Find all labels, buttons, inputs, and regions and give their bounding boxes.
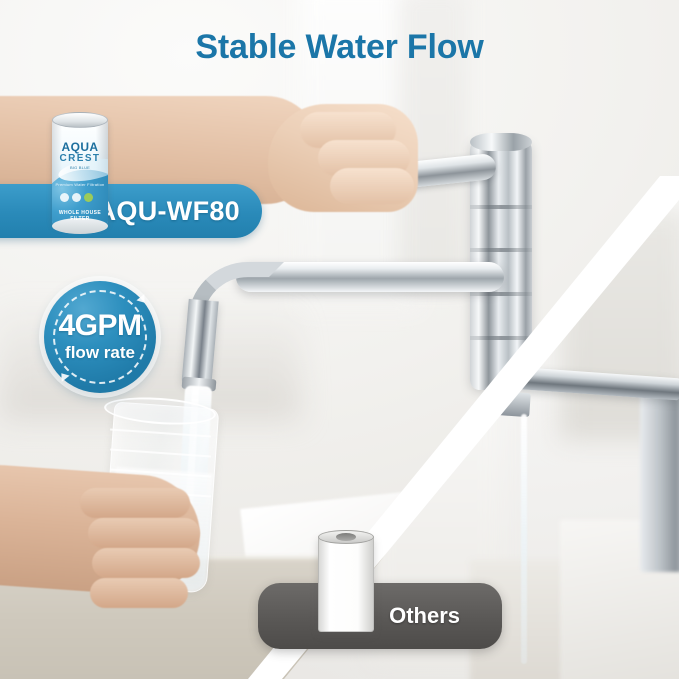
flow-rate-caption: flow rate bbox=[44, 343, 156, 363]
faucet-cap bbox=[470, 133, 532, 151]
others-banner: Others bbox=[258, 583, 502, 649]
cartridge-icon-3 bbox=[84, 193, 93, 202]
others-label: Others bbox=[389, 603, 502, 629]
cartridge-top-cap bbox=[52, 112, 108, 128]
product-model-label: AQU-WF80 bbox=[97, 196, 262, 227]
faucet-ring-4 bbox=[470, 336, 532, 340]
faucet-ring-3 bbox=[470, 292, 532, 296]
cartridge-icon-row bbox=[60, 192, 100, 202]
cartridge-icon-1 bbox=[60, 193, 69, 202]
weak-water-trickle bbox=[521, 414, 527, 664]
page-title: Stable Water Flow bbox=[0, 28, 679, 67]
cartridge-sub-text: BIG BLUE bbox=[52, 165, 108, 170]
cartridge-brand-line-2: CREST bbox=[52, 153, 108, 164]
cartridge-footer-text: WHOLE HOUSE FILTER bbox=[52, 210, 108, 222]
faucet-ring-2 bbox=[470, 248, 532, 252]
flow-rate-badge: 4GPM flow rate bbox=[44, 281, 156, 393]
others-cartridge-body bbox=[318, 536, 374, 632]
others-cartridge-center-hole bbox=[336, 533, 356, 541]
right-faucet-column bbox=[640, 392, 679, 572]
cartridge-icon-2 bbox=[72, 193, 81, 202]
cartridge-mid-text: Premium Water Filtration bbox=[52, 182, 108, 187]
product-comparison-image: Stable Water Flow AQU-WF80 AQUA CREST BI… bbox=[0, 0, 679, 679]
others-cartridge bbox=[318, 528, 374, 636]
finger-1 bbox=[80, 488, 190, 518]
finger-3 bbox=[92, 548, 200, 578]
flow-rate-value: 4GPM bbox=[44, 309, 156, 343]
cartridge-brand-line-1: AQUA bbox=[52, 140, 108, 154]
product-model-banner: AQU-WF80 bbox=[0, 184, 262, 238]
faucet-ring-1 bbox=[470, 205, 532, 209]
knuckle-3 bbox=[330, 168, 414, 204]
finger-4 bbox=[90, 578, 188, 608]
finger-2 bbox=[88, 518, 200, 548]
aquacrest-cartridge: AQUA CREST BIG BLUE Premium Water Filtra… bbox=[52, 110, 108, 232]
